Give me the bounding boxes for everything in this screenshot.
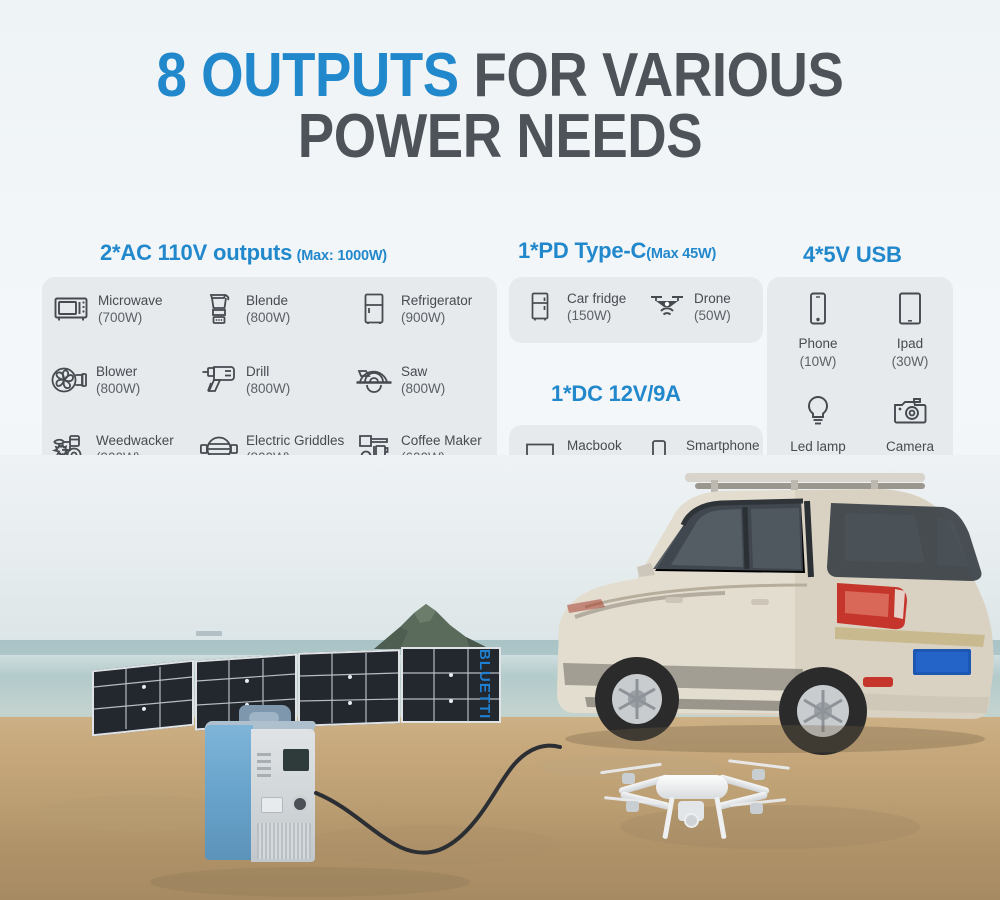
product-lifestyle-photo: BLUETTI <box>0 455 1000 900</box>
list-item-label: Microwave (700W) <box>98 292 163 327</box>
refrigerator-icon <box>355 292 393 326</box>
page-title: 8 OUTPUTS FOR VARIOUS POWER NEEDS <box>0 46 1000 168</box>
drone-motor <box>750 803 763 814</box>
item-name: Ipad <box>862 335 958 353</box>
item-name: Weedwacker <box>96 432 174 449</box>
drone-motor <box>752 769 765 780</box>
item-name: Coffee Maker <box>401 432 482 449</box>
section-heading-ac: 2*AC 110V outputs (Max: 1000W) <box>100 240 387 266</box>
item-watt: (30W) <box>862 353 958 371</box>
item-name: Blende <box>246 292 290 309</box>
title-rest-text: FOR VARIOUS <box>459 41 844 110</box>
item-name: Led lamp <box>770 438 866 456</box>
drone-motor <box>622 773 635 784</box>
minivan <box>545 467 1000 767</box>
item-name: Blower <box>96 363 140 380</box>
list-item-label: Saw (800W) <box>401 363 445 398</box>
section-heading-dc: 1*DC 12V/9A <box>551 381 681 407</box>
section-heading-ac-sub: (Max: 1000W) <box>297 248 387 264</box>
item-watt: (900W) <box>401 309 472 326</box>
drone-icon <box>648 290 686 324</box>
section-heading-usb: 4*5V USB <box>803 242 902 268</box>
item-watt: (700W) <box>98 309 163 326</box>
list-item-ipad[interactable]: Ipad (30W) <box>862 289 958 370</box>
list-item-label: Drone (50W) <box>694 290 731 325</box>
led-lamp-icon <box>770 392 866 432</box>
section-heading-pd-main: 1*PD Type-C <box>518 238 646 263</box>
list-item-saw[interactable]: Saw (800W) <box>355 363 445 398</box>
drill-icon <box>200 363 238 397</box>
list-item-blende[interactable]: Blende (800W) <box>200 292 290 327</box>
item-watt: (800W) <box>96 380 140 397</box>
list-item-label: Car fridge (150W) <box>567 290 626 325</box>
item-name: Saw <box>401 363 445 380</box>
phone-icon <box>770 289 866 329</box>
item-name: Camera <box>862 438 958 456</box>
item-name: Macbook <box>567 437 622 454</box>
title-line-2: POWER NEEDS <box>60 107 940 168</box>
list-item-phone[interactable]: Phone (10W) <box>770 289 866 370</box>
item-watt: (800W) <box>246 309 290 326</box>
list-item-drill[interactable]: Drill (800W) <box>200 363 290 398</box>
list-item-label: Refrigerator (900W) <box>401 292 472 327</box>
item-watt: (150W) <box>567 307 626 324</box>
item-name: Electric Griddles <box>246 432 344 449</box>
section-heading-usb-main: 4*5V USB <box>803 242 902 267</box>
item-name: Car fridge <box>567 290 626 307</box>
section-heading-ac-main: 2*AC 110V outputs <box>100 240 292 265</box>
ipad-icon <box>862 289 958 329</box>
section-heading-dc-main: 1*DC 12V/9A <box>551 381 681 406</box>
item-watt: (800W) <box>246 380 290 397</box>
list-item-label: Drill (800W) <box>246 363 290 398</box>
section-heading-pd: 1*PD Type-C(Max 45W) <box>518 238 716 264</box>
title-accent-text: 8 OUTPUTS <box>157 41 459 110</box>
saw-icon <box>355 363 393 397</box>
drone-motor <box>626 801 639 812</box>
blender-icon <box>200 292 238 326</box>
list-item-label: Blende (800W) <box>246 292 290 327</box>
title-line-1: 8 OUTPUTS FOR VARIOUS <box>60 46 940 107</box>
item-name: Refrigerator <box>401 292 472 309</box>
section-heading-pd-sub: (Max 45W) <box>646 246 716 262</box>
list-item-refrigerator[interactable]: Refrigerator (900W) <box>355 292 472 327</box>
item-name: Drill <box>246 363 290 380</box>
car-fridge-icon <box>521 290 559 324</box>
item-name: Smartphone <box>686 437 760 454</box>
item-name: Microwave <box>98 292 163 309</box>
list-item-car-fridge[interactable]: Car fridge (150W) <box>521 290 626 325</box>
list-item-microwave[interactable]: Microwave (700W) <box>52 292 163 327</box>
drone-device <box>600 745 790 865</box>
blower-icon <box>50 363 88 397</box>
microwave-icon <box>52 292 90 326</box>
item-watt: (50W) <box>694 307 731 324</box>
product-infographic: 8 OUTPUTS FOR VARIOUS POWER NEEDS 2*AC 1… <box>0 0 1000 900</box>
drone-camera <box>684 813 699 828</box>
drone-body <box>656 775 728 799</box>
list-item-blower[interactable]: Blower (800W) <box>50 363 140 398</box>
list-item-label: Blower (800W) <box>96 363 140 398</box>
item-name: Phone <box>770 335 866 353</box>
item-name: Drone <box>694 290 731 307</box>
item-watt: (800W) <box>401 380 445 397</box>
item-watt: (10W) <box>770 353 866 371</box>
camera-icon <box>862 392 958 432</box>
list-item-drone[interactable]: Drone (50W) <box>648 290 731 325</box>
